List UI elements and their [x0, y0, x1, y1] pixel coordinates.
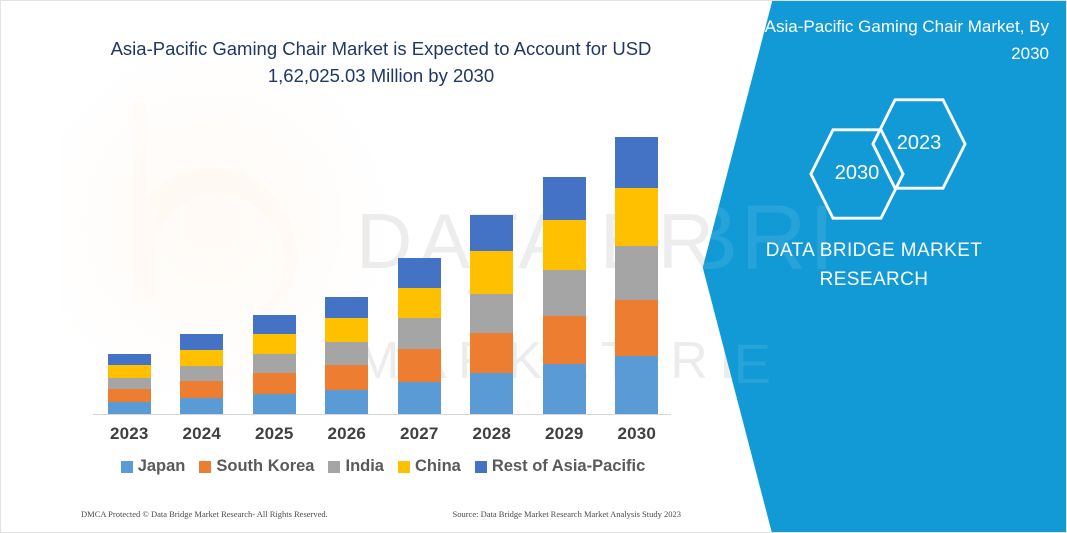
bar-slot — [601, 119, 674, 414]
bar-segment-japan — [398, 382, 441, 414]
bar-2025[interactable] — [253, 315, 296, 414]
bar-segment-south-korea — [108, 389, 151, 402]
bar-segment-south-korea — [253, 373, 296, 394]
bar-segment-india — [398, 318, 441, 349]
bar-slot — [383, 119, 456, 414]
legend-swatch-icon — [398, 461, 410, 473]
bar-segment-china — [108, 365, 151, 378]
brand-panel: BRI RE Asia-Pacific Gaming Chair Market,… — [669, 1, 1066, 533]
bar-segment-china — [470, 251, 513, 294]
bar-segment-south-korea — [325, 365, 368, 390]
bar-segment-china — [615, 188, 658, 246]
bar-2027[interactable] — [398, 258, 441, 414]
bar-segment-india — [325, 342, 368, 365]
bar-slot — [93, 119, 166, 414]
legend-swatch-icon — [199, 461, 211, 473]
bar-2030[interactable] — [615, 137, 658, 414]
bar-slot — [166, 119, 239, 414]
bar-segment-rest-of-asia-pacific — [325, 297, 368, 318]
x-axis-label-2029: 2029 — [528, 424, 601, 444]
x-axis-label-2027: 2027 — [383, 424, 456, 444]
bar-2028[interactable] — [470, 215, 513, 414]
hexagon-group: 2023 2030 — [669, 96, 1066, 221]
x-axis-label-2025: 2025 — [238, 424, 311, 444]
legend-item-south-korea[interactable]: South Korea — [199, 457, 314, 476]
x-axis-label-2030: 2030 — [601, 424, 674, 444]
bar-slot — [456, 119, 529, 414]
footer: DMCA Protected © Data Bridge Market Rese… — [81, 509, 681, 519]
bar-segment-india — [108, 378, 151, 389]
legend-item-japan[interactable]: Japan — [121, 457, 186, 476]
x-axis-label-2024: 2024 — [166, 424, 239, 444]
bar-segment-japan — [470, 373, 513, 414]
bar-segment-rest-of-asia-pacific — [398, 258, 441, 288]
legend-label: Japan — [138, 457, 186, 476]
chart-legend: JapanSouth KoreaIndiaChinaRest of Asia-P… — [93, 457, 673, 476]
legend-item-rest-of-asia-pacific[interactable]: Rest of Asia-Pacific — [475, 457, 645, 476]
infographic-frame: DATA BRIDGE MARKET RESEARCH Asia-Pacific… — [0, 0, 1067, 533]
x-axis-label-2023: 2023 — [93, 424, 166, 444]
bar-segment-india — [253, 354, 296, 373]
legend-item-china[interactable]: China — [398, 457, 461, 476]
bar-2026[interactable] — [325, 297, 368, 414]
bar-segment-south-korea — [180, 381, 223, 398]
brand-name: DATA BRIDGE MARKET RESEARCH — [709, 236, 1039, 294]
legend-label: India — [345, 457, 384, 476]
chart-title: Asia-Pacific Gaming Chair Market is Expe… — [93, 35, 669, 89]
bar-segment-india — [180, 366, 223, 381]
footer-source: Source: Data Bridge Market Research Mark… — [452, 509, 681, 519]
bar-segment-south-korea — [543, 316, 586, 364]
hexagon-2030: 2030 — [809, 126, 905, 222]
bar-segment-china — [398, 288, 441, 318]
legend-label: South Korea — [216, 457, 314, 476]
bar-segment-japan — [253, 394, 296, 414]
bar-segment-south-korea — [398, 349, 441, 382]
x-axis-label-2028: 2028 — [456, 424, 529, 444]
legend-label: China — [415, 457, 461, 476]
bar-segment-china — [325, 318, 368, 342]
legend-swatch-icon — [475, 461, 487, 473]
bar-segment-china — [543, 220, 586, 270]
bar-2029[interactable] — [543, 177, 586, 414]
brand-line-1: DATA BRIDGE MARKET — [766, 240, 983, 261]
panel-title: Asia-Pacific Gaming Chair Market, By 203… — [729, 13, 1049, 67]
bar-segment-india — [615, 246, 658, 300]
legend-swatch-icon — [328, 461, 340, 473]
bar-segment-south-korea — [470, 333, 513, 373]
bar-segment-south-korea — [615, 300, 658, 356]
bar-segment-rest-of-asia-pacific — [253, 315, 296, 334]
bar-segment-japan — [615, 356, 658, 414]
x-axis-line — [93, 414, 671, 415]
bar-segment-india — [470, 294, 513, 333]
bar-segment-rest-of-asia-pacific — [470, 215, 513, 251]
bar-2024[interactable] — [180, 334, 223, 414]
footer-copyright: DMCA Protected © Data Bridge Market Rese… — [81, 509, 328, 519]
bar-slot — [311, 119, 384, 414]
bar-slot — [238, 119, 311, 414]
bar-segment-rest-of-asia-pacific — [615, 137, 658, 188]
bar-segment-rest-of-asia-pacific — [543, 177, 586, 220]
bar-segment-rest-of-asia-pacific — [180, 334, 223, 350]
bar-segment-china — [180, 350, 223, 366]
legend-item-india[interactable]: India — [328, 457, 384, 476]
bar-segment-japan — [180, 398, 223, 414]
bar-segment-india — [543, 270, 586, 316]
bar-segment-rest-of-asia-pacific — [108, 354, 151, 365]
bar-segment-japan — [325, 390, 368, 414]
legend-swatch-icon — [121, 461, 133, 473]
x-axis-labels: 20232024202520262027202820292030 — [93, 424, 673, 444]
x-axis-label-2026: 2026 — [311, 424, 384, 444]
bar-2023[interactable] — [108, 354, 151, 414]
panel-watermark-2: RE — [669, 331, 1067, 396]
bar-slot — [528, 119, 601, 414]
hexagon-2030-label: 2030 — [809, 162, 905, 185]
brand-line-2: RESEARCH — [820, 269, 929, 290]
legend-label: Rest of Asia-Pacific — [492, 457, 645, 476]
stacked-bar-chart — [93, 119, 673, 414]
bar-segment-china — [253, 334, 296, 354]
bar-segment-japan — [108, 402, 151, 414]
bar-segment-japan — [543, 364, 586, 414]
